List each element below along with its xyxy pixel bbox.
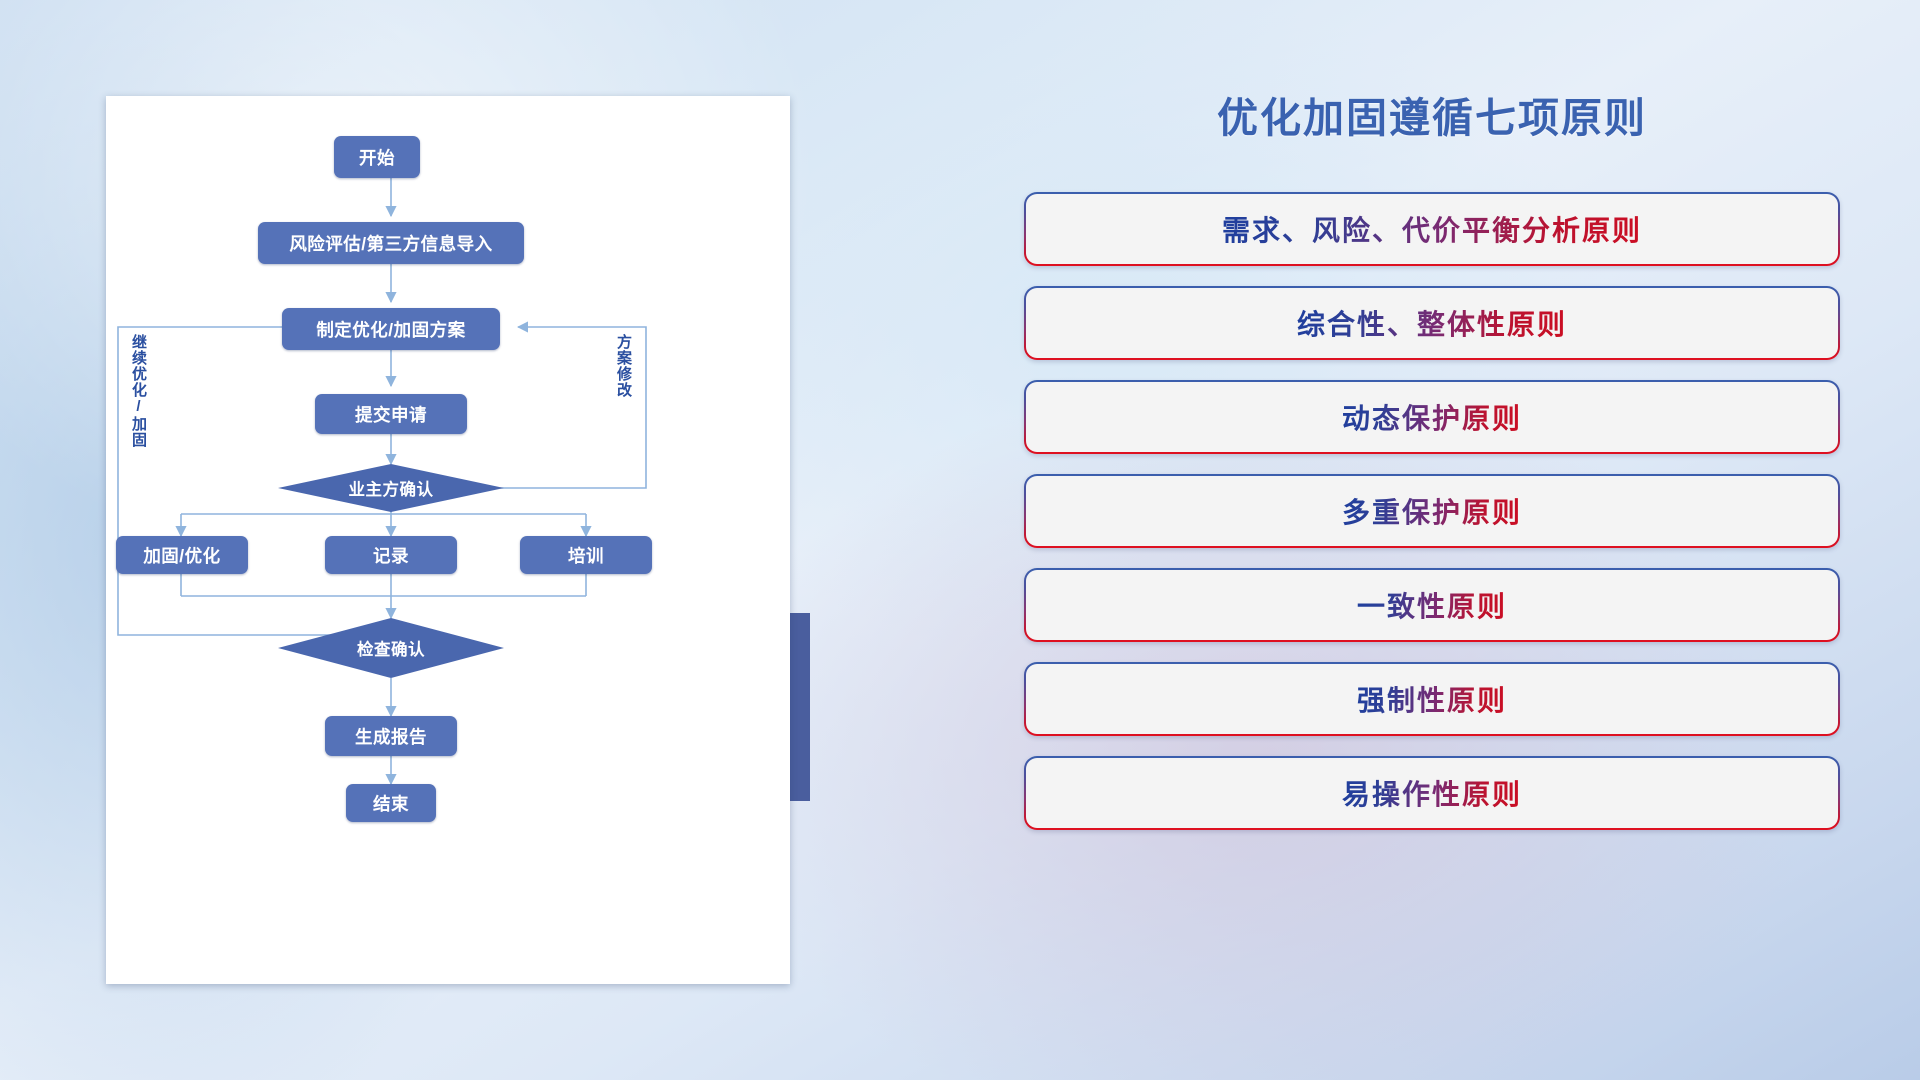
principle-card[interactable]: 一致性原则 <box>1024 568 1840 642</box>
node-submit-application[interactable]: 提交申请 <box>315 394 467 434</box>
edge-label-continue-optimize: 继续优化/加固 <box>131 334 146 448</box>
principle-card[interactable]: 需求、风险、代价平衡分析原则 <box>1024 192 1840 266</box>
decision-owner-confirm-label: 业主方确认 <box>349 476 434 500</box>
node-training[interactable]: 培训 <box>520 536 652 574</box>
flowchart-canvas: 开始 风险评估/第三方信息导入 制定优化/加固方案 提交申请 业主方确认 加固/… <box>106 96 790 984</box>
principle-card[interactable]: 易操作性原则 <box>1024 756 1840 830</box>
node-make-plan[interactable]: 制定优化/加固方案 <box>282 308 500 350</box>
principle-card-body: 综合性、整体性原则 <box>1026 288 1838 358</box>
node-start-label: 开始 <box>359 145 395 170</box>
node-risk-assessment-label: 风险评估/第三方信息导入 <box>289 231 492 256</box>
principles-title: 优化加固遵循七项原则 <box>1024 84 1840 144</box>
decision-owner-confirm[interactable]: 业主方确认 <box>278 468 504 508</box>
node-training-label: 培训 <box>568 543 604 568</box>
node-end-label: 结束 <box>373 791 409 816</box>
node-record-label: 记录 <box>373 543 409 568</box>
node-submit-application-label: 提交申请 <box>355 402 427 427</box>
principle-card[interactable]: 动态保护原则 <box>1024 380 1840 454</box>
principle-card-body: 易操作性原则 <box>1026 758 1838 828</box>
node-reinforce-optimize-label: 加固/优化 <box>143 543 220 568</box>
node-make-plan-label: 制定优化/加固方案 <box>316 317 465 342</box>
principles-panel: 优化加固遵循七项原则 需求、风险、代价平衡分析原则 综合性、整体性原则 动态保护… <box>1024 84 1840 850</box>
principle-card-label: 多重保护原则 <box>1342 491 1522 531</box>
node-start[interactable]: 开始 <box>334 136 420 178</box>
node-generate-report-label: 生成报告 <box>355 724 427 749</box>
node-generate-report[interactable]: 生成报告 <box>325 716 457 756</box>
edge-label-plan-revision-text: 方案修改 <box>615 334 632 398</box>
principle-card-label: 需求、风险、代价平衡分析原则 <box>1222 209 1642 249</box>
principles-card-list: 需求、风险、代价平衡分析原则 综合性、整体性原则 动态保护原则 多重保护原则 <box>1024 192 1840 830</box>
decision-check-confirm-label: 检查确认 <box>357 636 425 660</box>
edge-label-plan-revision: 方案修改 <box>616 334 631 398</box>
node-end[interactable]: 结束 <box>346 784 436 822</box>
principle-card-body: 多重保护原则 <box>1026 476 1838 546</box>
principle-card[interactable]: 多重保护原则 <box>1024 474 1840 548</box>
slide-root: 开始 风险评估/第三方信息导入 制定优化/加固方案 提交申请 业主方确认 加固/… <box>0 0 1920 1080</box>
node-reinforce-optimize[interactable]: 加固/优化 <box>116 536 248 574</box>
principle-card-label: 易操作性原则 <box>1342 773 1522 813</box>
principle-card-body: 一致性原则 <box>1026 570 1838 640</box>
principle-card-body: 动态保护原则 <box>1026 382 1838 452</box>
principle-card-label: 强制性原则 <box>1357 679 1507 719</box>
principle-card-label: 一致性原则 <box>1357 585 1507 625</box>
decision-check-confirm[interactable]: 检查确认 <box>278 628 504 668</box>
node-risk-assessment[interactable]: 风险评估/第三方信息导入 <box>258 222 524 264</box>
principle-card-body: 需求、风险、代价平衡分析原则 <box>1026 194 1838 264</box>
node-record[interactable]: 记录 <box>325 536 457 574</box>
principle-card-body: 强制性原则 <box>1026 664 1838 734</box>
principle-card-label: 动态保护原则 <box>1342 397 1522 437</box>
edge-label-continue-optimize-text: 继续优化/加固 <box>130 334 147 448</box>
principle-card-label: 综合性、整体性原则 <box>1297 303 1567 343</box>
principle-card[interactable]: 综合性、整体性原则 <box>1024 286 1840 360</box>
principle-card[interactable]: 强制性原则 <box>1024 662 1840 736</box>
flowchart-card: 开始 风险评估/第三方信息导入 制定优化/加固方案 提交申请 业主方确认 加固/… <box>106 96 790 984</box>
